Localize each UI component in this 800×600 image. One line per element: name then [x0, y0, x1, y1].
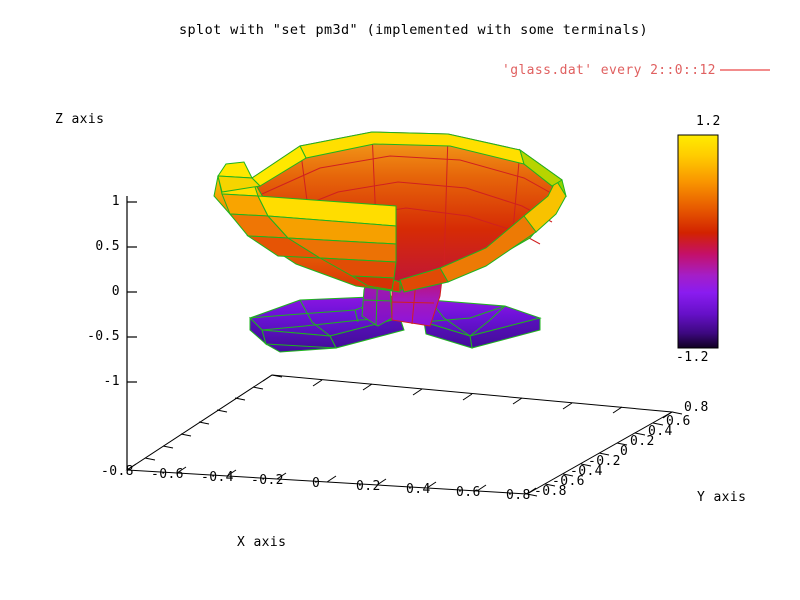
- plot-canvas: [0, 0, 800, 600]
- x-tick-label: -0.6: [151, 467, 184, 482]
- y-axis-label: Y axis: [697, 490, 746, 505]
- legend-entry-label: 'glass.dat' every 2::0::12: [502, 63, 716, 78]
- x-axis-tics-far: [263, 375, 672, 418]
- x-tick-label: 0.6: [456, 485, 481, 500]
- pm3d-surface: [214, 132, 566, 352]
- x-tick-label: 0.2: [356, 479, 381, 494]
- z-tick-label: -0.5: [74, 329, 120, 344]
- z-axis-tics: [127, 202, 137, 382]
- colorbar-min-label: -1.2: [676, 350, 709, 365]
- colorbox: [678, 135, 718, 348]
- x-tick-label: 0.4: [406, 482, 431, 497]
- x-tick-label: -0.4: [201, 470, 234, 485]
- plot-title: splot with "set pm3d" (implemented with …: [179, 22, 648, 38]
- x-tick-label: 0.8: [506, 488, 531, 503]
- y-tick-label: 0: [620, 444, 628, 459]
- z-tick-label: 0: [104, 284, 120, 299]
- gnuplot-figure: splot with "set pm3d" (implemented with …: [0, 0, 800, 600]
- z-axis-label: Z axis: [55, 112, 104, 127]
- y-tick-label: 0.8: [684, 400, 709, 415]
- x-tick-label: -0.2: [251, 473, 284, 488]
- y-tick-label: -0.2: [588, 454, 621, 469]
- colorbar-max-label: 1.2: [696, 114, 721, 129]
- z-tick-label: 0.5: [82, 239, 120, 254]
- y-tick-label: 0.6: [666, 414, 691, 429]
- z-tick-label: 1: [104, 194, 120, 209]
- x-tick-label: 0: [312, 476, 320, 491]
- x-axis-label: X axis: [237, 535, 286, 550]
- z-tick-label: -1: [96, 374, 120, 389]
- x-tick-label: -0.8: [101, 464, 134, 479]
- y-axis-tics-far: [145, 375, 282, 460]
